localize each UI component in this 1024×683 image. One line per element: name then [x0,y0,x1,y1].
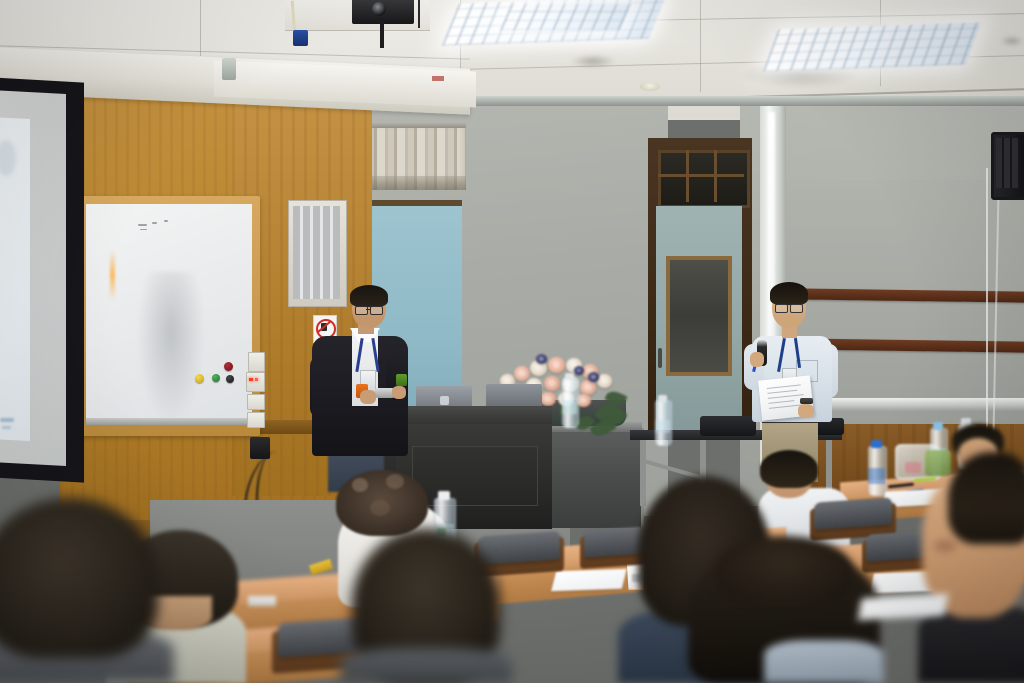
presenter-hand-left [360,390,376,404]
status-led-indicator [255,378,258,381]
side-table-leg [640,438,646,506]
hair-texture [370,500,390,516]
door-vision-panel [666,256,732,376]
flower-rose [580,380,596,395]
projector-cable-connector [293,30,308,46]
flower-rose [514,366,530,381]
loose-paper [858,594,948,620]
flower-rose [544,376,560,391]
screen-housing-bracket [222,58,236,80]
outlet-plate[interactable] [247,394,265,410]
slide-content-mark [0,418,14,422]
ceiling-light-panel [500,4,632,30]
whiteboard-magnet-red[interactable] [224,362,233,371]
water-bottle [655,400,670,444]
eyeglasses-icon [775,304,788,313]
side-table-leg [826,438,832,494]
flower-accent-dark [536,354,547,364]
outlet-plate[interactable] [247,412,265,428]
flower-rose [540,392,556,406]
desk-label-tag [248,596,276,606]
status-led-indicator [249,378,253,381]
ceiling-water-stain [570,54,616,68]
screen-housing-label [432,76,444,81]
ceiling-grid-line [700,0,701,92]
whiteboard-reflection-shadow [138,272,204,422]
flower-rose [548,357,565,373]
attendee-light-shirt-body [764,640,884,683]
ceiling-grid-line [200,0,201,56]
whiteboard-marks [164,220,168,222]
held-object-green [396,374,407,386]
hair-texture [386,474,404,489]
whiteboard-marks [152,222,157,224]
attendee-centre-dark-body [340,648,512,683]
lectern-front-panel [412,446,538,506]
attendee-foreground-right-hair [948,452,1024,544]
smoke-detector-icon [640,82,660,91]
hair-texture [352,478,368,492]
ceiling-water-stain [1000,36,1024,46]
water-bottle [562,378,577,426]
water-bottle [868,446,885,494]
slide-content-mark [2,426,11,429]
chair-back[interactable] [814,497,892,529]
whiteboard-marks [138,224,147,226]
flower-accent-dark [574,366,584,375]
equipment-cart [546,428,644,528]
chair-back[interactable] [478,531,560,565]
presenter-hand-right [392,386,406,399]
door-transom-window [658,150,750,208]
attendee-foreground-right-mouth [934,540,956,552]
projector-lens-icon [372,2,386,16]
control-panel-plate[interactable] [246,372,265,392]
presenter-hand-right [798,404,814,418]
speaker-grill-icon [996,138,1020,188]
whiteboard-magnet-yellow[interactable] [195,374,204,383]
whiteboard-glare [110,250,115,300]
flower-rose [597,374,612,388]
door-handle[interactable] [658,348,662,368]
bag-contents [925,450,951,476]
valance-hem [368,176,466,190]
presenter-hair [770,282,808,305]
ceiling-light-panel [763,23,981,72]
light-switch-plate[interactable] [248,352,265,372]
eyeglasses-icon [355,306,368,315]
whiteboard-magnet-black[interactable] [226,375,234,383]
loose-paper [551,569,627,591]
projector-wire [418,0,420,28]
whiteboard-pen-tray [86,418,252,425]
projector-drop-pole [380,18,384,48]
attendee-white-shirt-hair [760,450,818,488]
flower-accent-dark [588,372,599,382]
attendee-long-hair-crown [716,536,852,602]
presenter-hand-left [750,352,764,367]
laptop-logo-icon [440,396,449,405]
eyeglasses-icon [790,304,803,313]
laptop-bag [700,416,756,436]
seminar-room-photograph [0,0,1024,683]
whiteboard-magnet-green[interactable] [212,374,220,382]
presenter-hair [350,285,388,307]
eyeglasses-icon [370,306,383,315]
transom-rail [658,174,744,177]
eyeglasses-bridge-icon [366,309,371,310]
hanging-wire [986,168,988,468]
air-vent-grille-icon [293,206,340,299]
bag-contents [905,462,921,473]
